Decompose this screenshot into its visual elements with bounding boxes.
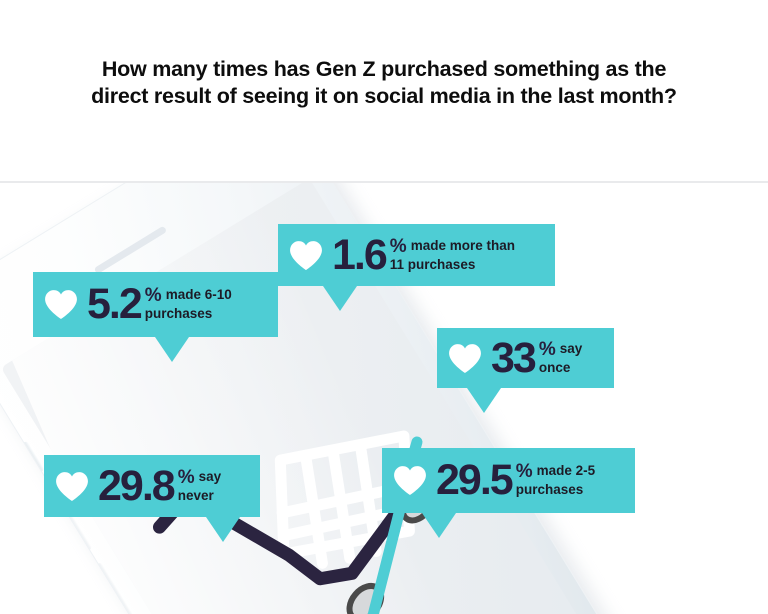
stat-badge-more-than-11-purchases[interactable]: 1.6 %made more than 11 purchases bbox=[278, 224, 555, 286]
badge-pointer-tail bbox=[155, 337, 189, 362]
stat-label: made more than 11 purchases bbox=[390, 238, 515, 272]
stat-caption: %say once bbox=[539, 340, 582, 377]
heart-icon bbox=[448, 343, 482, 374]
phone-earpiece-speaker bbox=[94, 226, 168, 275]
stat-badge-say-once[interactable]: 33 %say once bbox=[437, 328, 614, 388]
percent-symbol: % bbox=[539, 339, 556, 360]
badge-pointer-tail bbox=[422, 513, 456, 538]
stat-value: 5.2 bbox=[87, 283, 141, 326]
percent-symbol: % bbox=[390, 236, 407, 257]
percent-symbol: % bbox=[178, 467, 195, 488]
stat-badge-6-10-purchases[interactable]: 5.2 %made 6-10 purchases bbox=[33, 272, 278, 337]
page-title-line-1: How many times has Gen Z purchased somet… bbox=[64, 56, 704, 83]
stat-caption: %say never bbox=[178, 468, 221, 505]
heart-icon bbox=[55, 471, 89, 502]
badge-pointer-tail bbox=[206, 517, 240, 542]
badge-pointer-tail bbox=[323, 286, 357, 311]
header-band: How many times has Gen Z purchased somet… bbox=[0, 0, 768, 182]
stat-value: 1.6 bbox=[332, 234, 386, 277]
header-divider bbox=[0, 181, 768, 183]
stat-badge-2-5-purchases[interactable]: 29.5 %made 2-5 purchases bbox=[382, 448, 635, 513]
heart-icon bbox=[393, 465, 427, 496]
infographic-root: How many times has Gen Z purchased somet… bbox=[0, 0, 768, 614]
stat-value: 33 bbox=[491, 337, 535, 380]
stat-value: 29.5 bbox=[436, 459, 512, 502]
stat-caption: %made 2-5 purchases bbox=[516, 462, 595, 499]
badge-pointer-tail bbox=[467, 388, 501, 413]
percent-symbol: % bbox=[516, 461, 533, 482]
heart-icon bbox=[289, 240, 323, 271]
page-title: How many times has Gen Z purchased somet… bbox=[64, 56, 704, 110]
stat-badge-say-never[interactable]: 29.8 %say never bbox=[44, 455, 260, 517]
stat-caption: %made more than 11 purchases bbox=[390, 237, 515, 274]
percent-symbol: % bbox=[145, 285, 162, 306]
heart-icon bbox=[44, 289, 78, 320]
stat-value: 29.8 bbox=[98, 465, 174, 508]
page-title-line-2: direct result of seeing it on social med… bbox=[64, 83, 704, 110]
stat-caption: %made 6-10 purchases bbox=[145, 286, 232, 323]
